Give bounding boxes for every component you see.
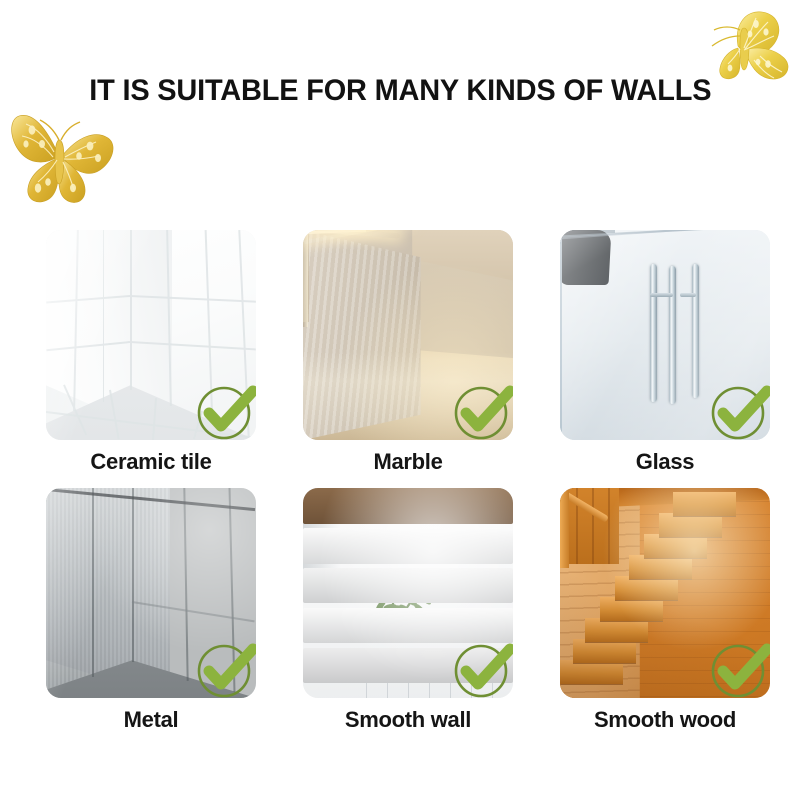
surface-card-ceramic-tile[interactable]: Ceramic tile — [46, 230, 256, 475]
glass-reflection-highlight — [560, 230, 770, 440]
surface-card-smooth-wall[interactable]: Smooth wall — [303, 488, 513, 733]
page-title: IT IS SUITABLE FOR MANY KINDS OF WALLS — [0, 74, 800, 108]
surface-label-marble: Marble — [303, 449, 513, 475]
surface-photo-ceramic-tile — [46, 230, 256, 440]
surface-photo-smooth-wall — [303, 488, 513, 698]
surface-photo-metal — [46, 488, 256, 698]
surface-label-smooth-wall: Smooth wall — [303, 707, 513, 733]
page-title-text: IT IS SUITABLE FOR MANY KINDS OF WALLS — [89, 74, 711, 108]
surface-label-glass: Glass — [560, 449, 770, 475]
butterfly-icon-left — [2, 100, 120, 208]
surface-card-metal[interactable]: Metal — [46, 488, 256, 733]
metal-specular-highlight — [46, 488, 256, 698]
surface-card-marble[interactable]: Marble — [303, 230, 513, 475]
surface-label-ceramic-tile: Ceramic tile — [46, 449, 256, 475]
wall-soft-light — [303, 488, 513, 698]
surface-label-smooth-wood: Smooth wood — [560, 707, 770, 733]
ceramic-gloss-highlight — [46, 230, 256, 440]
surface-grid: Ceramic tile Marble — [46, 230, 776, 733]
surface-photo-marble — [303, 230, 513, 440]
surface-label-metal: Metal — [46, 707, 256, 733]
surface-card-smooth-wood[interactable]: Smooth wood — [560, 488, 770, 733]
butterfly-icon-right — [694, 6, 798, 92]
surface-photo-smooth-wood — [560, 488, 770, 698]
wood-vignette — [560, 488, 770, 698]
surface-photo-glass — [560, 230, 770, 440]
marble-floor-reflection — [303, 230, 513, 440]
surface-card-glass[interactable]: Glass — [560, 230, 770, 475]
